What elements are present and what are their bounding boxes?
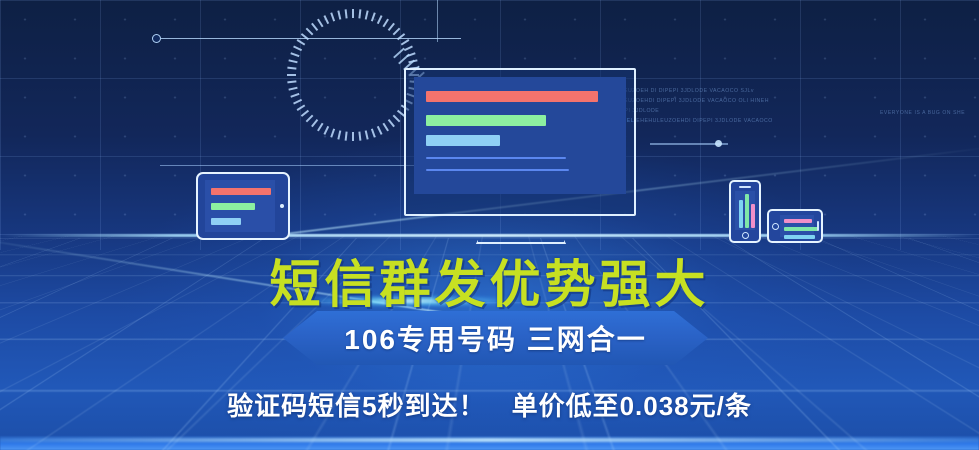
tagline-right: 单价低至0.038元/条 xyxy=(512,391,752,421)
tablet-screen xyxy=(205,180,275,232)
circle-tick xyxy=(323,126,329,135)
phone-portrait-screen xyxy=(735,191,755,230)
circle-tick xyxy=(371,128,376,137)
decorative-text-line-1: EHEHULEUZOEH DI DIPEPI 3JDLODE VACAOCO S… xyxy=(600,86,840,96)
monitor-content-bar xyxy=(426,169,569,171)
circle-tick xyxy=(404,45,413,51)
phone-speaker-icon xyxy=(739,186,751,188)
phone-landscape-content-bar xyxy=(784,219,812,223)
phone-content-bar xyxy=(751,204,755,228)
promo-banner: EHEHULEUZOEH DI DIPEPI 3JDLODE VACAOCO S… xyxy=(0,0,979,450)
circle-tick xyxy=(352,9,354,18)
phone-content-bar xyxy=(745,194,749,228)
circle-tick xyxy=(371,12,376,21)
circle-tick xyxy=(293,99,302,105)
desktop-monitor xyxy=(404,68,636,216)
circle-tick xyxy=(352,132,354,141)
phone-landscape-home-button-icon xyxy=(772,223,779,230)
circle-tick xyxy=(365,130,369,139)
decorative-slider-icon xyxy=(650,143,728,145)
circle-tick xyxy=(388,23,395,31)
tagline-left: 验证码短信5秒到达！ xyxy=(227,391,485,421)
phone-home-button-icon xyxy=(742,232,749,239)
circle-tick xyxy=(330,128,335,137)
circle-tick xyxy=(306,28,314,36)
page-title: 短信群发优势强大 xyxy=(0,243,979,317)
circle-tick xyxy=(293,45,302,51)
tablet-content-bar xyxy=(211,218,241,225)
tablet-device xyxy=(196,172,290,240)
monitor-screen xyxy=(414,77,626,194)
circle-tick xyxy=(358,9,361,18)
circle-tick xyxy=(297,104,306,110)
circle-tick xyxy=(337,10,341,19)
monitor-content-bar xyxy=(426,157,566,159)
circle-tick xyxy=(388,119,395,127)
circle-tick xyxy=(382,123,388,132)
circle-tick xyxy=(377,126,383,135)
phone-landscape-content-bar xyxy=(784,227,818,231)
circle-tick xyxy=(297,39,306,45)
circle-tick xyxy=(345,9,348,18)
ribbon-label: 106专用号码 三网合一 xyxy=(344,318,647,358)
decorative-text-line-4-body: EHEHULEUZOEHDI DIPEPI 3JDLODE VACAOCO xyxy=(636,118,773,124)
circle-tick xyxy=(290,93,299,98)
monitor-content-bar xyxy=(426,115,546,126)
circle-tick xyxy=(393,115,401,123)
decorative-text-line-3: HD DIPEPI 3JDLODE xyxy=(600,106,840,116)
circle-tick xyxy=(317,123,323,132)
tagline: 验证码短信5秒到达！单价低至0.038元/条 xyxy=(0,386,979,423)
circle-tick xyxy=(382,19,388,28)
circle-tick xyxy=(358,132,361,141)
decorative-text-line-2: EHEHULEUZOEHDI DIPEPI 3JDLODE VACAOCO OL… xyxy=(600,96,840,106)
ribbon-banner: 106专用号码 三网合一 xyxy=(283,311,708,365)
circle-tick xyxy=(290,52,299,57)
vertical-connector-line xyxy=(437,0,438,42)
bottom-glow-line xyxy=(0,438,979,442)
tablet-content-bar xyxy=(211,188,271,195)
circle-tick xyxy=(401,39,410,45)
phone-portrait-device xyxy=(729,180,761,243)
phone-landscape-screen xyxy=(780,215,814,237)
circle-tick xyxy=(393,28,401,36)
monitor-stand xyxy=(476,214,566,244)
circle-tick xyxy=(288,87,297,91)
circle-tick xyxy=(287,67,296,70)
decorative-text-right: EVERYONE IS A BUG ON SHE xyxy=(880,110,965,116)
circle-tick xyxy=(301,110,309,117)
circle-tick xyxy=(311,119,318,127)
decorative-text-line-4: DIIC TAMEL EHEHULEUZOEHDI DIPEPI 3JDLODE… xyxy=(600,116,840,126)
monitor-content-bar xyxy=(426,91,598,102)
circle-tick xyxy=(377,15,383,24)
circle-tick xyxy=(317,19,323,28)
decorative-text-block: EHEHULEUZOEH DI DIPEPI 3JDLODE VACAOCO S… xyxy=(600,86,840,126)
circle-tick xyxy=(345,132,348,141)
circle-tick xyxy=(288,59,297,63)
circle-tick xyxy=(323,15,329,24)
circle-tick xyxy=(287,74,296,76)
tablet-home-button-icon xyxy=(280,204,284,208)
phone-landscape-speaker-icon xyxy=(817,221,819,231)
phone-content-bar xyxy=(739,200,743,228)
phone-landscape-content-bar xyxy=(784,235,815,239)
circle-tick xyxy=(287,80,296,83)
tablet-content-bar xyxy=(211,203,255,210)
phone-landscape-device xyxy=(767,209,823,243)
circle-tick xyxy=(365,10,369,19)
node-dot-icon xyxy=(152,34,161,43)
circle-tick xyxy=(330,12,335,21)
circle-tick xyxy=(306,115,314,123)
node-connector-line xyxy=(161,38,461,39)
circle-tick xyxy=(337,130,341,139)
circle-tick xyxy=(311,23,318,31)
monitor-content-bar xyxy=(426,135,500,146)
